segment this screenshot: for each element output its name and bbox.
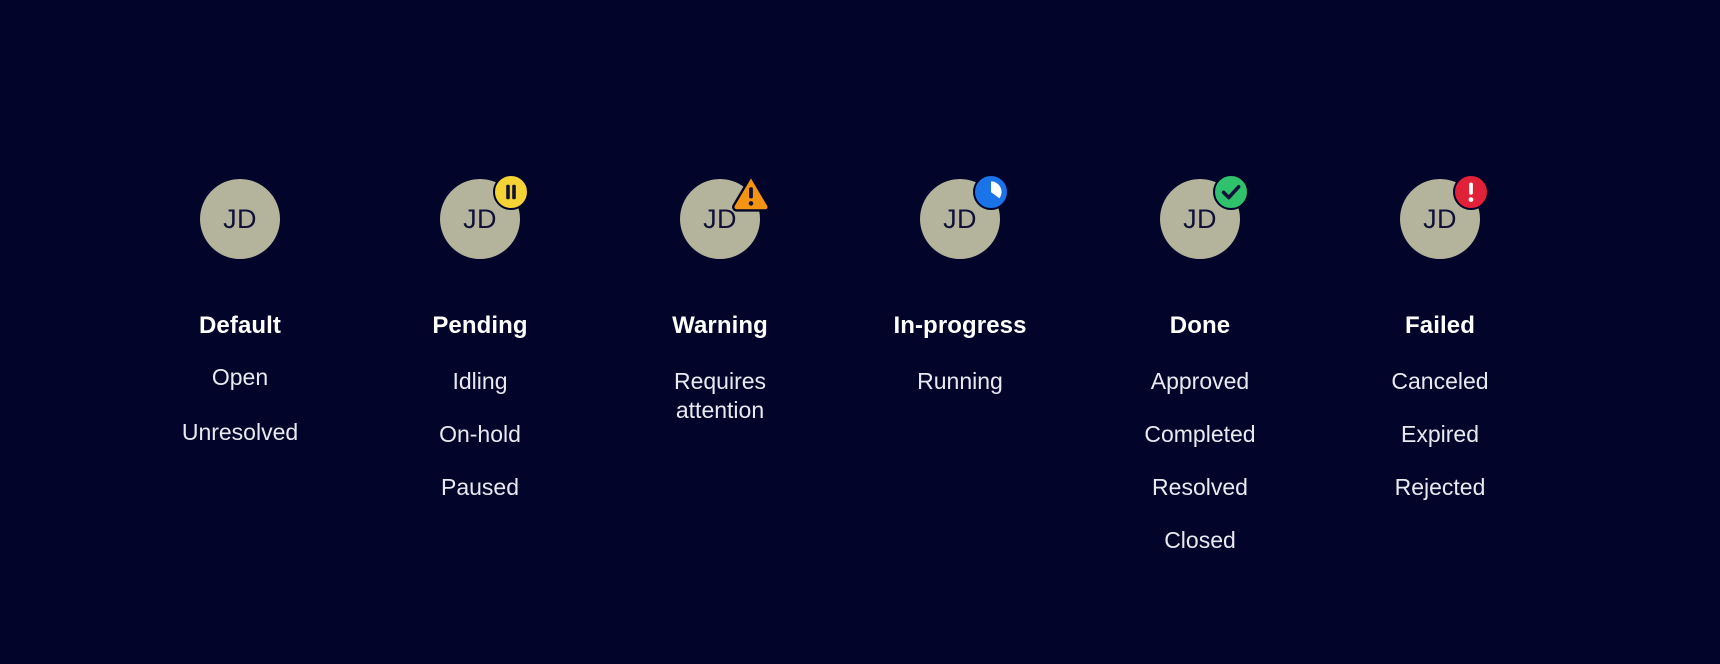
check-badge-icon [1212,173,1250,211]
avatar[interactable]: JD [1400,179,1480,259]
status-item: Running [917,355,1003,408]
status-item: Paused [441,461,519,514]
status-item-list-done: ApprovedCompletedResolvedClosed [1144,355,1255,566]
status-item: Open [212,350,268,405]
status-item-list-failed: CanceledExpiredRejected [1391,355,1488,513]
status-item-list-warning: Requires attention [660,355,780,437]
status-column-pending: JDPendingIdlingOn-holdPaused [360,0,600,514]
status-title-in-progress: In-progress [893,313,1026,339]
avatar-initials: JD [223,206,257,233]
status-item: Canceled [1391,355,1488,408]
avatar[interactable]: JD [1160,179,1240,259]
error-exclamation-badge-icon [1452,173,1490,211]
status-columns: JDDefaultOpenUnresolvedJDPendingIdlingOn… [120,0,1600,664]
status-title-default: Default [199,313,281,339]
avatar[interactable]: JD [920,179,1000,259]
status-item: Approved [1151,355,1249,408]
status-title-pending: Pending [432,313,527,339]
status-badge-done [1212,173,1250,211]
status-item: Completed [1144,408,1255,461]
avatar-wrapper-in-progress: JD [900,155,1020,265]
status-item-list-in-progress: Running [917,355,1003,408]
warning-triangle-badge-icon [731,173,771,211]
status-column-in-progress: JDIn-progressRunning [840,0,1080,408]
pause-badge-icon [492,173,530,211]
status-item: Rejected [1395,461,1486,514]
status-item-list-default: OpenUnresolved [182,350,298,460]
status-badge-failed [1452,173,1490,211]
status-title-done: Done [1170,313,1230,339]
status-item-list-pending: IdlingOn-holdPaused [439,355,521,513]
avatar-wrapper-done: JD [1140,155,1260,265]
status-legend-board: JDDefaultOpenUnresolvedJDPendingIdlingOn… [0,0,1720,664]
status-item: On-hold [439,408,521,461]
avatar-wrapper-pending: JD [420,155,540,265]
status-column-done: JDDoneApprovedCompletedResolvedClosed [1080,0,1320,566]
avatar[interactable]: JD [200,179,280,259]
status-title-failed: Failed [1405,313,1475,339]
status-column-failed: JDFailedCanceledExpiredRejected [1320,0,1560,514]
status-column-default: JDDefaultOpenUnresolved [120,0,360,460]
status-title-warning: Warning [672,313,768,339]
status-item: Resolved [1152,461,1248,514]
status-item: Closed [1164,514,1236,567]
status-badge-pending [492,173,530,211]
avatar-wrapper-default: JD [180,155,300,265]
avatar[interactable]: JD [680,179,760,259]
status-badge-in-progress [972,173,1010,211]
status-item: Unresolved [182,405,298,460]
status-column-warning: JDWarningRequires attention [600,0,840,437]
status-item: Expired [1401,408,1479,461]
avatar[interactable]: JD [440,179,520,259]
status-item: Idling [453,355,508,408]
progress-pie-badge-icon [972,173,1010,211]
avatar-wrapper-warning: JD [660,155,780,265]
status-badge-warning [732,173,770,211]
status-item: Requires attention [660,355,780,437]
avatar-wrapper-failed: JD [1380,155,1500,265]
